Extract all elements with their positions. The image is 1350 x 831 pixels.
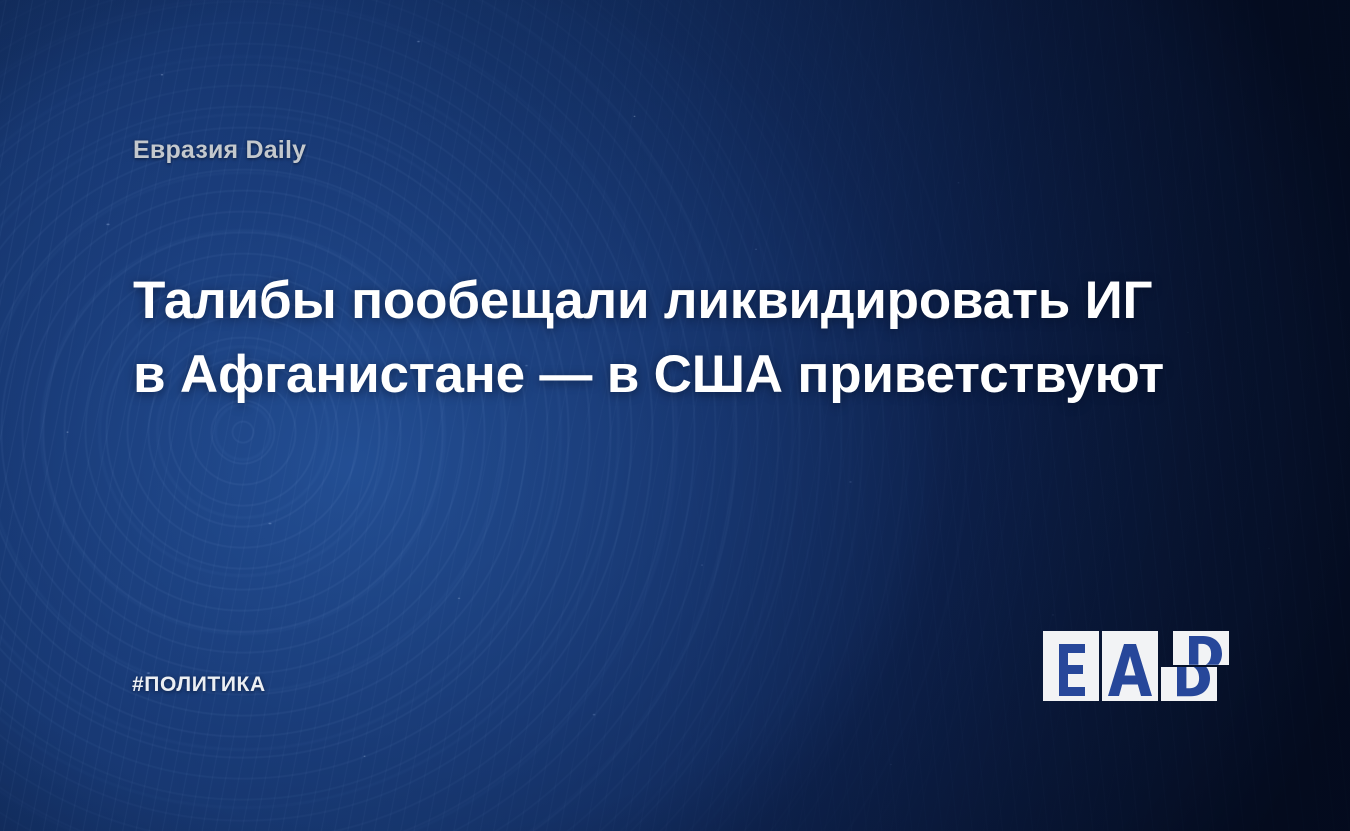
headline: Талибы пообещали ликвидировать ИГ в Афга… (133, 264, 1198, 412)
card-content: Евразия Daily Талибы пообещали ликвидиро… (0, 0, 1350, 831)
eadaily-logo-mark (1042, 617, 1230, 711)
eadaily-logo (1042, 617, 1230, 711)
brand-wordmark: Евразия Daily (133, 136, 306, 165)
rubric-tag-politics: #ПОЛИТИКА (132, 673, 266, 697)
logo-letter-e (1059, 644, 1085, 696)
news-share-card: Евразия Daily Талибы пообещали ликвидиро… (0, 0, 1350, 831)
